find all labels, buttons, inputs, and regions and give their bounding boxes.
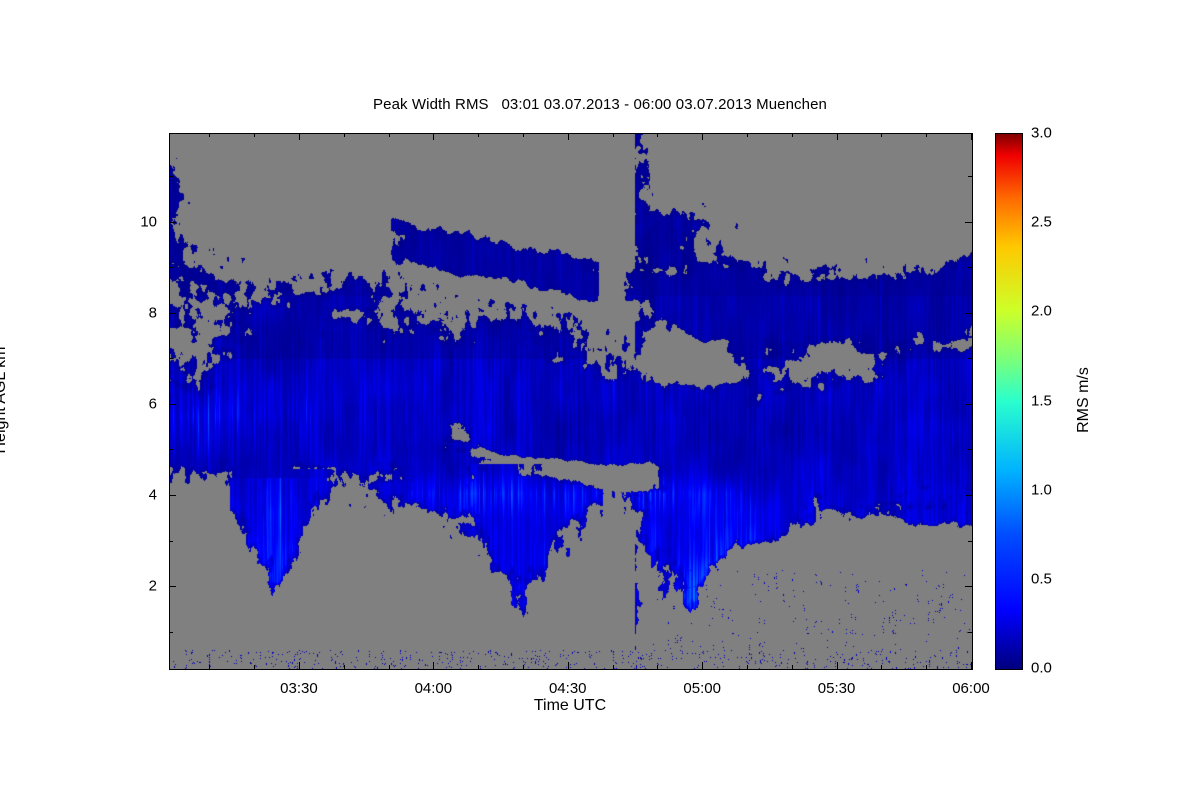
x-tick-label-03:30: 03:30 xyxy=(259,680,339,697)
colorbar-tick-label-2.5: 2.5 xyxy=(1031,214,1052,231)
x-tick-label-04:30: 04:30 xyxy=(528,680,608,697)
y-tick-label-8: 8 xyxy=(117,304,157,321)
x-tick-top-350 xyxy=(926,133,927,137)
x-tick-top-280 xyxy=(613,133,614,137)
colorbar-tick-label-1.0: 1.0 xyxy=(1031,481,1052,498)
y-tick-right-7 xyxy=(968,358,972,359)
x-tick-220 xyxy=(344,665,345,669)
x-tick-200 xyxy=(254,665,255,669)
y-tick-label-4: 4 xyxy=(117,486,157,503)
y-tick-6 xyxy=(169,404,176,405)
x-tick-310 xyxy=(747,665,748,669)
x-tick-top-210 xyxy=(299,133,300,140)
x-tick-top-300 xyxy=(702,133,703,140)
x-tick-top-290 xyxy=(657,133,658,137)
x-tick-label-05:30: 05:30 xyxy=(797,680,877,697)
y-tick-2 xyxy=(169,586,176,587)
y-tick-8 xyxy=(169,313,176,314)
y-axis-label: Height AGL km xyxy=(0,346,10,453)
x-tick-230 xyxy=(389,665,390,669)
y-tick-7 xyxy=(169,358,173,359)
x-tick-300 xyxy=(702,662,703,669)
x-tick-top-200 xyxy=(254,133,255,137)
y-tick-11 xyxy=(169,176,173,177)
x-tick-360 xyxy=(971,662,972,669)
heatmap-canvas xyxy=(170,134,972,669)
x-tick-280 xyxy=(613,665,614,669)
colorbar-tick-label-3.0: 3.0 xyxy=(1031,125,1052,142)
x-tick-320 xyxy=(792,665,793,669)
y-tick-label-6: 6 xyxy=(117,395,157,412)
y-tick-3 xyxy=(169,541,173,542)
figure-root: Peak Width RMS 03:01 03.07.2013 - 06:00 … xyxy=(0,0,1200,800)
x-tick-340 xyxy=(881,665,882,669)
x-tick-270 xyxy=(568,662,569,669)
x-tick-240 xyxy=(433,662,434,669)
colorbar-tick-label-0.5: 0.5 xyxy=(1031,570,1052,587)
x-tick-250 xyxy=(478,665,479,669)
y-tick-4 xyxy=(169,495,176,496)
x-tick-label-05:00: 05:00 xyxy=(662,680,742,697)
x-axis-label: Time UTC xyxy=(169,697,971,715)
y-tick-9 xyxy=(169,267,173,268)
y-tick-right-6 xyxy=(965,404,972,405)
x-tick-label-04:00: 04:00 xyxy=(393,680,473,697)
y-tick-right-10 xyxy=(965,222,972,223)
x-tick-top-330 xyxy=(837,133,838,140)
x-tick-top-320 xyxy=(792,133,793,137)
x-tick-top-250 xyxy=(478,133,479,137)
x-tick-top-340 xyxy=(881,133,882,137)
y-tick-right-1 xyxy=(968,632,972,633)
colorbar-label: RMS m/s xyxy=(1075,367,1093,433)
colorbar xyxy=(995,133,1023,670)
colorbar-tick-label-1.5: 1.5 xyxy=(1031,392,1052,409)
y-tick-5 xyxy=(169,449,173,450)
y-tick-right-9 xyxy=(968,267,972,268)
plot-area xyxy=(169,133,973,670)
x-tick-350 xyxy=(926,665,927,669)
x-tick-top-270 xyxy=(568,133,569,140)
x-tick-top-360 xyxy=(971,133,972,140)
y-tick-right-3 xyxy=(968,541,972,542)
y-tick-label-2: 2 xyxy=(117,578,157,595)
y-tick-right-5 xyxy=(968,449,972,450)
y-tick-right-2 xyxy=(965,586,972,587)
y-tick-right-8 xyxy=(965,313,972,314)
y-tick-right-4 xyxy=(965,495,972,496)
x-tick-210 xyxy=(299,662,300,669)
x-tick-top-220 xyxy=(344,133,345,137)
x-tick-330 xyxy=(837,662,838,669)
colorbar-tick-label-0.0: 0.0 xyxy=(1031,660,1052,677)
y-tick-1 xyxy=(169,632,173,633)
x-tick-290 xyxy=(657,665,658,669)
y-tick-10 xyxy=(169,222,176,223)
x-tick-top-260 xyxy=(523,133,524,137)
x-tick-label-06:00: 06:00 xyxy=(931,680,1011,697)
colorbar-tick-label-2.0: 2.0 xyxy=(1031,303,1052,320)
x-tick-190 xyxy=(209,665,210,669)
y-tick-label-10: 10 xyxy=(117,213,157,230)
y-tick-right-11 xyxy=(968,176,972,177)
x-tick-top-230 xyxy=(389,133,390,137)
x-tick-260 xyxy=(523,665,524,669)
chart-title: Peak Width RMS 03:01 03.07.2013 - 06:00 … xyxy=(0,96,1200,113)
x-tick-top-310 xyxy=(747,133,748,137)
x-tick-top-190 xyxy=(209,133,210,137)
x-tick-top-240 xyxy=(433,133,434,140)
